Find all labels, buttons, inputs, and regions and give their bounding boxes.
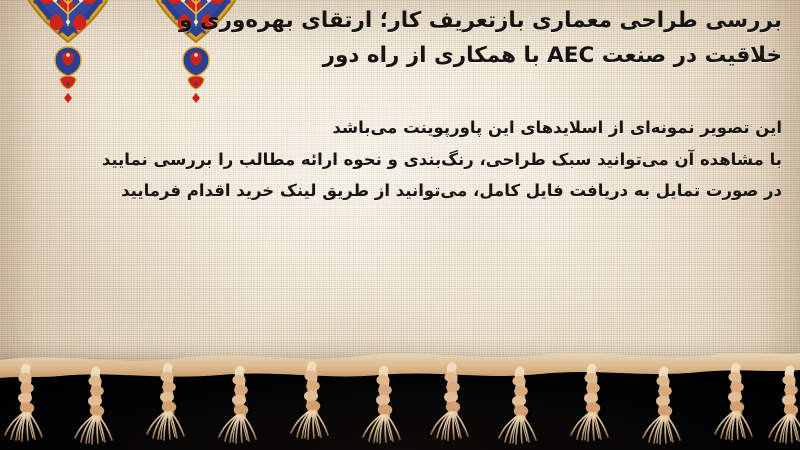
body-line-3: در صورت تمایل به دریافت فایل کامل، می‌تو… [22,175,782,207]
slide-body: این تصویر نمونه‌ای از اسلایدهای این پاور… [22,112,782,207]
presentation-slide: بررسی طراحی معماری بازتعریف کار؛ ارتقای … [0,0,800,450]
carpet-fringe-icon [0,340,800,450]
carpet-bottom-edge [0,340,800,450]
slide-title: بررسی طراحی معماری بازتعریف کار؛ ارتقای … [182,4,782,74]
body-line-2: با مشاهده آن می‌توانید سبک طراحی، رنگ‌بن… [22,144,782,176]
title-line-1: بررسی طراحی معماری بازتعریف کار؛ ارتقای … [182,4,782,39]
body-line-1: این تصویر نمونه‌ای از اسلایدهای این پاور… [22,112,782,144]
title-line-2: خلاقیت در صنعت AEC با همکاری از راه دور [182,39,782,74]
fringe-tassels [5,366,800,444]
fringe-selvedge [0,353,800,378]
